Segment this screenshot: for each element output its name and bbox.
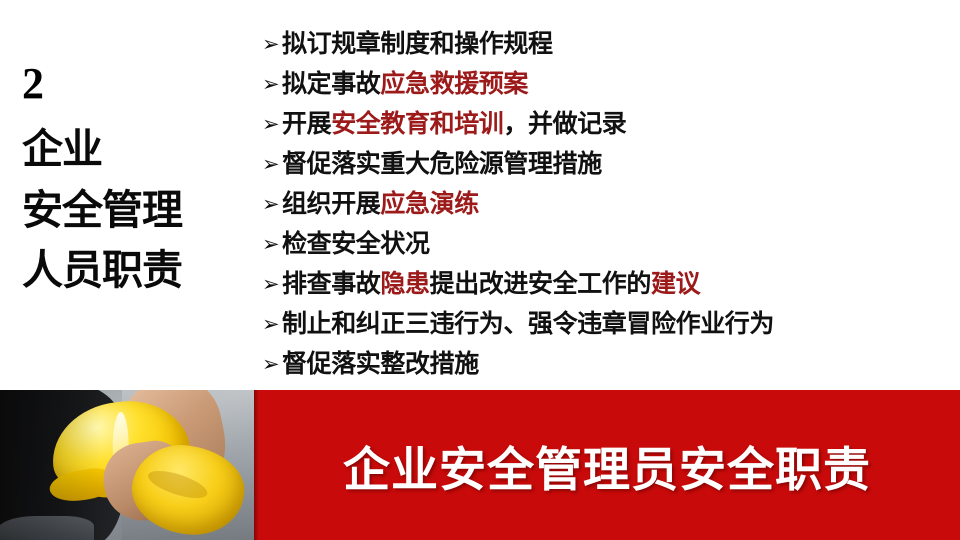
plain-term: ，并做记录 (503, 109, 626, 138)
slide: 2 企业 安全管理 人员职责 ➢拟订规章制度和操作规程➢拟定事故应急救援预案➢开… (0, 0, 960, 540)
plain-term: 组织开展 (282, 189, 380, 218)
plain-term: 拟订规章制度和操作规程 (282, 29, 553, 58)
red-banner: 企业安全管理员安全职责 (254, 390, 960, 540)
list-item-label: 检查安全状况 (282, 224, 430, 264)
bullet-arrow-icon: ➢ (262, 224, 282, 264)
plain-term: 督促落实重大危险源管理措施 (282, 149, 602, 178)
list-item-label: 拟订规章制度和操作规程 (282, 24, 553, 64)
list-item-label: 督促落实整改措施 (282, 344, 479, 384)
bullet-arrow-icon: ➢ (262, 144, 282, 184)
bullet-arrow-icon: ➢ (262, 184, 282, 224)
plain-term: 排查事故 (282, 269, 380, 298)
bullet-arrow-icon: ➢ (262, 264, 282, 304)
list-item: ➢督促落实重大危险源管理措施 (262, 144, 954, 184)
highlighted-term: 应急救援预案 (380, 69, 528, 98)
list-item: ➢制止和纠正三违行为、强令违章冒险作业行为 (262, 304, 954, 344)
section-number: 2 (22, 62, 244, 106)
title-column: 2 企业 安全管理 人员职责 (0, 0, 254, 390)
bottom-strip: 企业安全管理员安全职责 (0, 390, 960, 540)
highlighted-term: 隐患 (380, 269, 429, 298)
bullet-arrow-icon: ➢ (262, 104, 282, 144)
plain-term: 提出改进安全工作的 (430, 269, 651, 298)
highlighted-term: 建议 (651, 269, 700, 298)
bullet-arrow-icon: ➢ (262, 24, 282, 64)
bullet-arrow-icon: ➢ (262, 304, 282, 344)
list-item: ➢督促落实整改措施 (262, 344, 954, 384)
bullet-arrow-icon: ➢ (262, 64, 282, 104)
list-item-label: 拟定事故应急救援预案 (282, 64, 528, 104)
list-item: ➢开展安全教育和培训，并做记录 (262, 104, 954, 144)
plain-term: 检查安全状况 (282, 229, 430, 258)
bullet-arrow-icon: ➢ (262, 344, 282, 384)
list-item: ➢组织开展应急演练 (262, 184, 954, 224)
plain-term: 开展 (282, 109, 331, 138)
plain-term: 制止和纠正三违行为、强令违章冒险作业行为 (282, 309, 774, 338)
list-item-label: 开展安全教育和培训，并做记录 (282, 104, 626, 144)
list-item-label: 组织开展应急演练 (282, 184, 479, 224)
banner-left-edge (254, 390, 259, 540)
title-line-3: 人员职责 (22, 249, 244, 292)
list-item-label: 制止和纠正三违行为、强令违章冒险作业行为 (282, 304, 774, 344)
list-item: ➢检查安全状况 (262, 224, 954, 264)
list-item: ➢拟订规章制度和操作规程 (262, 24, 954, 64)
title-line-1: 企业 (22, 128, 244, 171)
list-item-label: 督促落实重大危险源管理措施 (282, 144, 602, 184)
banner-title: 企业安全管理员安全职责 (343, 431, 871, 500)
plain-term: 拟定事故 (282, 69, 380, 98)
title-line-2: 安全管理 (22, 189, 244, 232)
worker-photo (0, 390, 254, 540)
responsibility-list: ➢拟订规章制度和操作规程➢拟定事故应急救援预案➢开展安全教育和培训，并做记录➢督… (262, 24, 954, 386)
list-item: ➢排查事故隐患提出改进安全工作的建议 (262, 264, 954, 304)
list-item: ➢拟定事故应急救援预案 (262, 64, 954, 104)
plain-term: 督促落实整改措施 (282, 349, 479, 378)
highlighted-term: 安全教育和培训 (331, 109, 503, 138)
highlighted-term: 应急演练 (380, 189, 478, 218)
list-item-label: 排查事故隐患提出改进安全工作的建议 (282, 264, 700, 304)
